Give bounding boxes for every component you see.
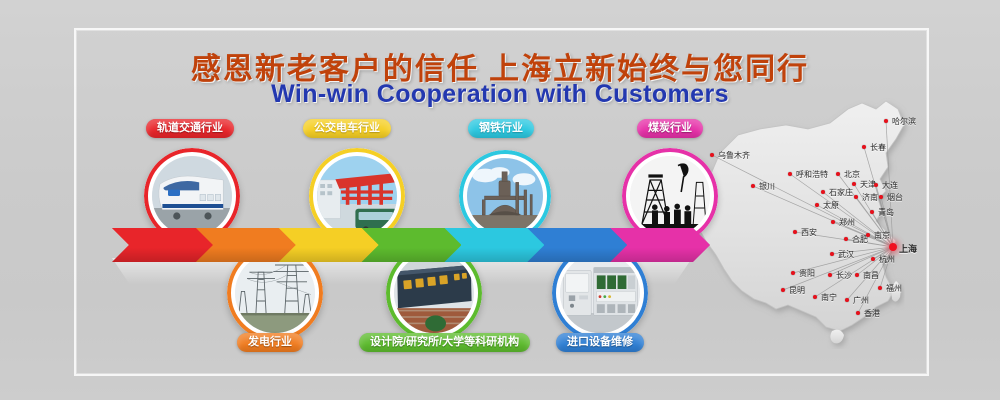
city-dot bbox=[879, 195, 883, 199]
city-label: 武汉 bbox=[838, 249, 854, 260]
city-label: 长沙 bbox=[836, 270, 852, 281]
promo-banner: 哈尔滨长春呼和浩特北京天津大连银川石家庄济南烟台太原青岛郑州西安合肥南京上海武汉… bbox=[0, 0, 1000, 400]
ribbon-segment bbox=[112, 228, 213, 262]
city-label: 北京 bbox=[844, 169, 860, 180]
city-label: 呼和浩特 bbox=[796, 169, 828, 180]
city-dot bbox=[836, 172, 840, 176]
city-label: 大连 bbox=[882, 180, 898, 191]
city-dot bbox=[793, 230, 797, 234]
city-dot bbox=[866, 233, 870, 237]
city-label: 太原 bbox=[823, 200, 839, 211]
city-dot bbox=[878, 286, 882, 290]
industry-label-steel[interactable]: 钢铁行业 bbox=[468, 119, 534, 138]
city-label: 昆明 bbox=[789, 285, 805, 296]
city-label: 南宁 bbox=[821, 292, 837, 303]
industry-label-power[interactable]: 发电行业 bbox=[237, 333, 303, 352]
city-label: 上海 bbox=[899, 242, 917, 255]
city-dot bbox=[821, 190, 825, 194]
china-distribution-map: 哈尔滨长春呼和浩特北京天津大连银川石家庄济南烟台太原青岛郑州西安合肥南京上海武汉… bbox=[690, 95, 940, 360]
city-dot bbox=[788, 172, 792, 176]
industry-ribbon bbox=[112, 228, 692, 262]
city-label: 西安 bbox=[801, 227, 817, 238]
city-dot bbox=[781, 288, 785, 292]
city-label: 杭州 bbox=[879, 254, 895, 265]
city-label: 郑州 bbox=[839, 217, 855, 228]
city-label: 银川 bbox=[759, 181, 775, 192]
city-dot bbox=[831, 220, 835, 224]
city-dot bbox=[830, 252, 834, 256]
city-dot bbox=[870, 210, 874, 214]
industry-label-rail[interactable]: 轨道交通行业 bbox=[146, 119, 234, 138]
city-dot bbox=[889, 243, 897, 251]
city-dot bbox=[845, 298, 849, 302]
city-dot bbox=[844, 237, 848, 241]
city-label: 南昌 bbox=[863, 270, 879, 281]
city-dot bbox=[828, 273, 832, 277]
city-label: 哈尔滨 bbox=[892, 116, 916, 127]
city-label: 长春 bbox=[870, 142, 886, 153]
city-label: 烟台 bbox=[887, 192, 903, 203]
city-label: 乌鲁木齐 bbox=[718, 150, 750, 161]
city-dot bbox=[710, 153, 714, 157]
city-dot bbox=[856, 311, 860, 315]
city-dot bbox=[884, 119, 888, 123]
city-label: 南京 bbox=[874, 230, 890, 241]
city-label: 青岛 bbox=[878, 207, 894, 218]
city-dot bbox=[815, 203, 819, 207]
city-label: 广州 bbox=[853, 295, 869, 306]
industry-label-coal[interactable]: 煤炭行业 bbox=[637, 119, 703, 138]
city-dot bbox=[813, 295, 817, 299]
city-label: 香港 bbox=[864, 308, 880, 319]
city-label: 济南 bbox=[862, 192, 878, 203]
city-dot bbox=[855, 273, 859, 277]
industry-label-research[interactable]: 设计院/研究所/大学等科研机构 bbox=[359, 333, 530, 352]
city-label: 石家庄 bbox=[829, 187, 853, 198]
city-dot bbox=[862, 145, 866, 149]
page-subtitle-english: Win-win Cooperation with Customers bbox=[0, 80, 1000, 109]
city-dot bbox=[854, 195, 858, 199]
industry-label-bus-tram[interactable]: 公交电车行业 bbox=[303, 119, 391, 138]
city-dot bbox=[871, 257, 875, 261]
city-dot bbox=[751, 184, 755, 188]
city-dot bbox=[874, 183, 878, 187]
city-label: 贵阳 bbox=[799, 268, 815, 279]
industry-label-import-maint[interactable]: 进口设备维修 bbox=[556, 333, 644, 352]
city-dot bbox=[852, 182, 856, 186]
city-dot bbox=[791, 271, 795, 275]
city-label: 福州 bbox=[886, 283, 902, 294]
